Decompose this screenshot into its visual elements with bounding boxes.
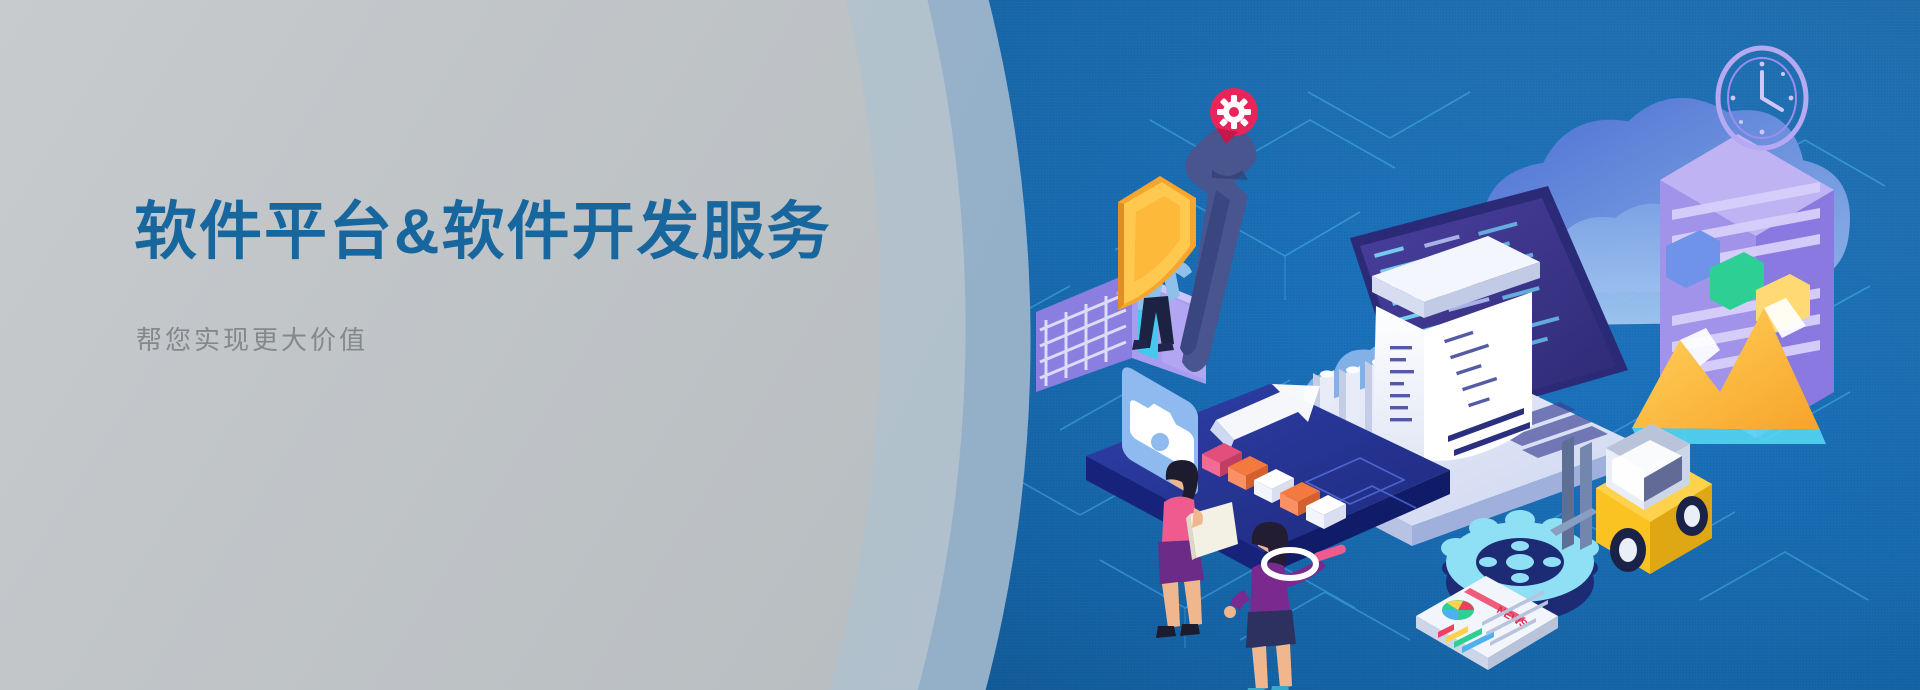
banner-title: 软件平台&软件开发服务 <box>134 196 894 268</box>
banner-copy: 软件平台&软件开发服务 帮您实现更大价值 <box>134 196 894 357</box>
hero-banner: 软件平台&软件开发服务 帮您实现更大价值 <box>0 0 1920 690</box>
banner-subtitle: 帮您实现更大价值 <box>136 320 894 357</box>
camera-lens <box>1151 433 1169 451</box>
clock-icon <box>1718 48 1806 148</box>
isometric-scene: NEWS <box>1020 40 1920 690</box>
hero-illustration: NEWS <box>1020 40 1920 690</box>
